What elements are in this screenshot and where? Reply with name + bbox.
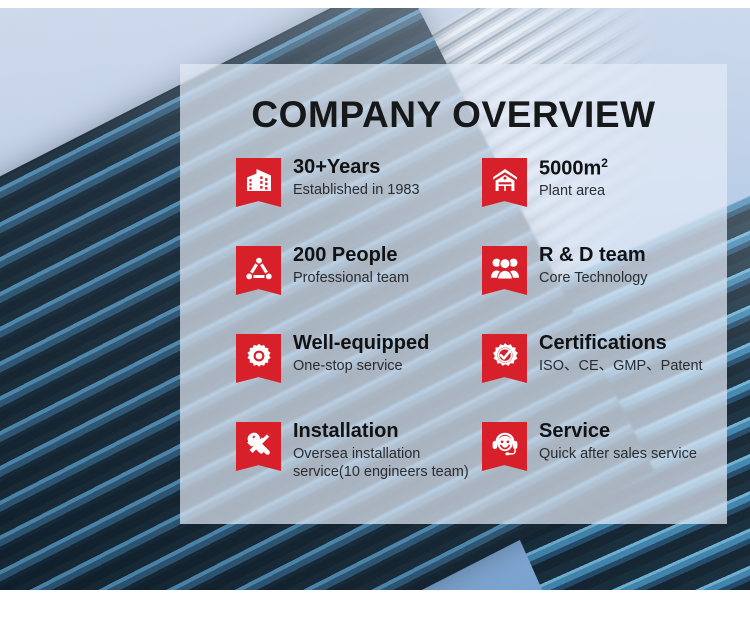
feature-heading: Well-equipped — [293, 333, 429, 355]
wrench-screwdriver-icon — [236, 422, 281, 471]
feature-row: Installation Oversea installation servic… — [236, 420, 728, 516]
gear-icon — [236, 334, 281, 383]
feature-item-service: Service Quick after sales service — [482, 420, 728, 516]
feature-heading: 30+Years — [293, 157, 420, 179]
feature-subtext: Core Technology — [539, 269, 648, 287]
feature-subtext: Professional team — [293, 269, 409, 287]
feature-row: Well-equipped One-stop service — [236, 332, 728, 420]
feature-heading: Certifications — [539, 333, 703, 355]
feature-subtext: Established in 1983 — [293, 181, 420, 199]
feature-item-people: 200 People Professional team — [236, 244, 482, 332]
feature-subtext: Plant area — [539, 182, 608, 200]
feature-text: 5000m2 Plant area — [539, 156, 608, 200]
page-title: COMPANY OVERVIEW — [180, 94, 727, 136]
feature-text: Well-equipped One-stop service — [293, 332, 429, 375]
feature-item-well-equipped: Well-equipped One-stop service — [236, 332, 482, 420]
feature-heading: 5000m2 — [539, 157, 608, 180]
feature-grid: 30+Years Established in 1983 — [236, 156, 728, 516]
overview-card: COMPANY OVERVIEW — [180, 64, 727, 524]
feature-item-certifications: Certifications ISO、CE、GMP、Patent — [482, 332, 728, 420]
feature-subtext: One-stop service — [293, 357, 429, 375]
feature-text: 30+Years Established in 1983 — [293, 156, 420, 199]
people-group-icon — [482, 246, 527, 295]
feature-item-rd-team: R & D team Core Technology — [482, 244, 728, 332]
feature-heading: R & D team — [539, 245, 648, 267]
headset-support-icon — [482, 422, 527, 471]
feature-subtext: Quick after sales service — [539, 445, 697, 463]
feature-text: 200 People Professional team — [293, 244, 409, 287]
feature-text: Installation Oversea installation servic… — [293, 420, 471, 481]
feature-heading-superscript: 2 — [601, 156, 608, 170]
feature-heading: 200 People — [293, 245, 409, 267]
feature-subtext: Oversea installation service(10 engineer… — [293, 445, 471, 481]
feature-heading: Installation — [293, 421, 471, 443]
feature-heading: Service — [539, 421, 697, 443]
feature-row: 200 People Professional team — [236, 244, 728, 332]
feature-item-plant-area: 5000m2 Plant area — [482, 156, 728, 244]
certificate-check-icon — [482, 334, 527, 383]
office-building-icon — [236, 158, 281, 207]
feature-item-years: 30+Years Established in 1983 — [236, 156, 482, 244]
network-nodes-icon — [236, 246, 281, 295]
feature-text: Service Quick after sales service — [539, 420, 697, 463]
feature-item-installation: Installation Oversea installation servic… — [236, 420, 482, 516]
feature-subtext: ISO、CE、GMP、Patent — [539, 357, 703, 375]
factory-plant-icon — [482, 158, 527, 207]
company-overview-banner: COMPANY OVERVIEW — [0, 0, 750, 620]
feature-text: Certifications ISO、CE、GMP、Patent — [539, 332, 703, 375]
feature-row: 30+Years Established in 1983 — [236, 156, 728, 244]
feature-text: R & D team Core Technology — [539, 244, 648, 287]
